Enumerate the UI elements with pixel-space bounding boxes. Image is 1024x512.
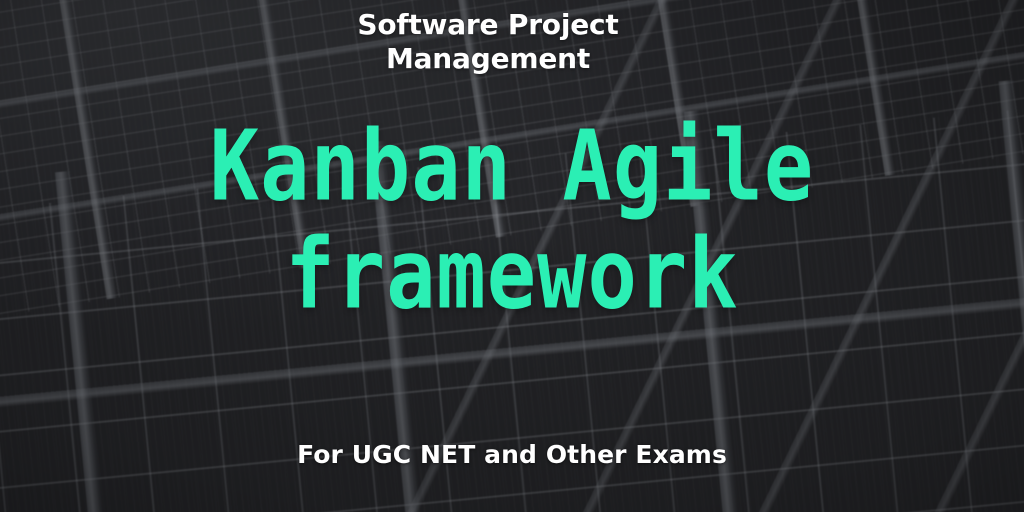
headline-line-2: framework: [0, 212, 1024, 339]
eyebrow-line-2: Management: [0, 42, 976, 76]
banner-canvas: Software Project Management Kanban Agile…: [0, 0, 1024, 512]
banner-content: Software Project Management Kanban Agile…: [0, 0, 1024, 512]
eyebrow-line-1: Software Project: [357, 8, 618, 41]
subtitle-footnote: For UGC NET and Other Exams: [0, 440, 1024, 470]
eyebrow-heading: Software Project Management: [0, 8, 1024, 76]
page-title: Kanban Agile framework: [0, 104, 1024, 320]
